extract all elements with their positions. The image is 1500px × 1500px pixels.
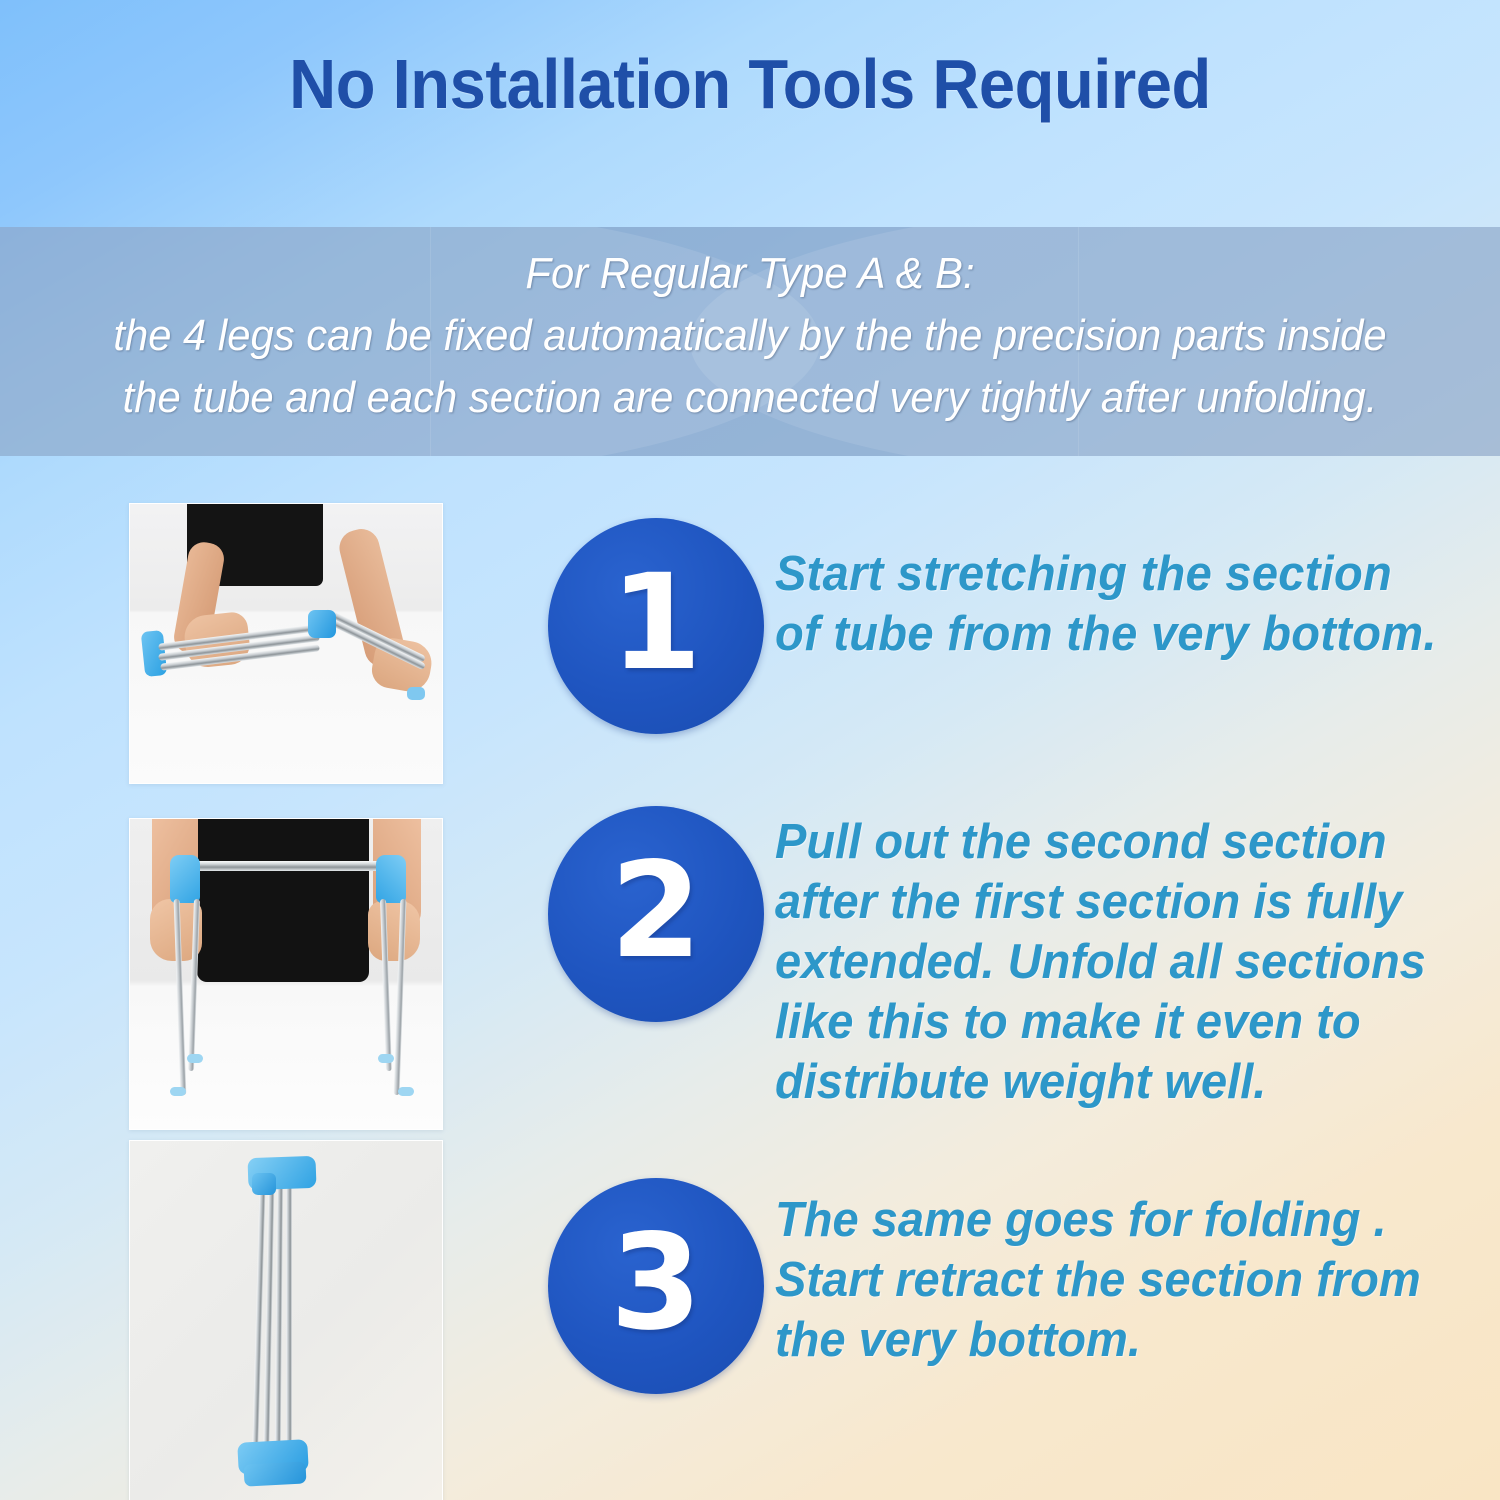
photo-2-foot-2 <box>187 1054 203 1063</box>
photo-2-foot-4 <box>398 1087 414 1096</box>
step-3-text: The same goes for folding . Start retrac… <box>775 1190 1447 1370</box>
banner-line-3: the tube and each section are connected … <box>38 367 1463 429</box>
info-banner: For Regular Type A & B: the 4 legs can b… <box>0 227 1500 456</box>
step-2-number-badge: 2 <box>548 806 764 1022</box>
step-2-text: Pull out the second section after the fi… <box>775 812 1447 1112</box>
steps-list: 1 Start stretching the section of tube f… <box>0 0 1500 1500</box>
photo-2-black-shirt <box>197 818 369 982</box>
step-1-photo <box>129 503 443 784</box>
step-1-number: 1 <box>548 518 764 734</box>
photo-3-blue-cap-bottom-inner <box>243 1461 306 1486</box>
banner-line-1: For Regular Type A & B: <box>38 243 1463 305</box>
step-3-number: 3 <box>548 1178 764 1394</box>
photo-2-right-hand <box>368 901 420 961</box>
photo-2-foot-1 <box>170 1087 186 1096</box>
step-3-photo <box>129 1140 443 1500</box>
photo-1-blue-cap-far <box>407 687 425 700</box>
banner-text-block: For Regular Type A & B: the 4 legs can b… <box>38 227 1463 429</box>
step-1-number-badge: 1 <box>548 518 764 734</box>
infographic-page: No Installation Tools Required For Regul… <box>0 0 1500 1500</box>
photo-3-blue-cap-top-inner <box>252 1173 276 1195</box>
photo-2-blue-corner-right <box>376 855 406 903</box>
step-2-number: 2 <box>548 806 764 1022</box>
photo-2-foot-3 <box>378 1054 394 1063</box>
photo-3-tube-4 <box>286 1179 292 1459</box>
photo-2-blue-corner-left <box>170 855 200 903</box>
photo-1-blue-cap-corner <box>308 610 336 638</box>
step-3-number-badge: 3 <box>548 1178 764 1394</box>
step-1-text: Start stretching the section of tube fro… <box>775 544 1447 664</box>
photo-2-top-bar <box>188 861 384 871</box>
step-2-photo <box>129 818 443 1130</box>
banner-line-2: the 4 legs can be fixed automatically by… <box>38 305 1463 367</box>
